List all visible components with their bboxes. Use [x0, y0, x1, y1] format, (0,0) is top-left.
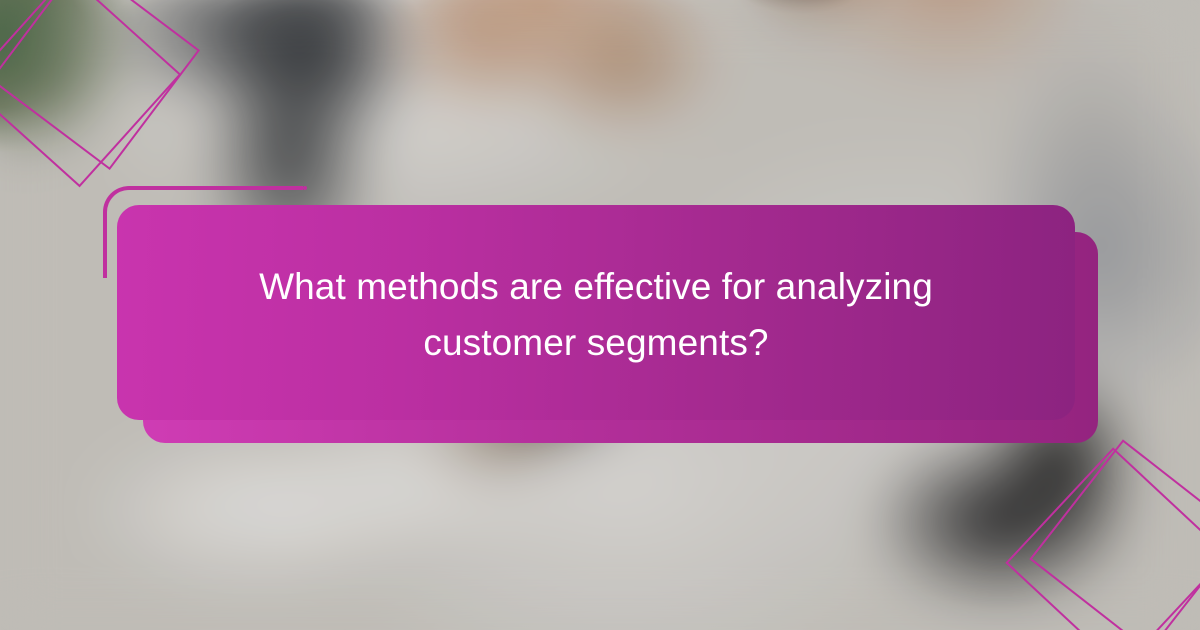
page-title: What methods are effective for analyzing… [216, 259, 976, 371]
share-card-canvas: What methods are effective for analyzing… [0, 0, 1200, 630]
headline-card: What methods are effective for analyzing… [117, 205, 1075, 420]
